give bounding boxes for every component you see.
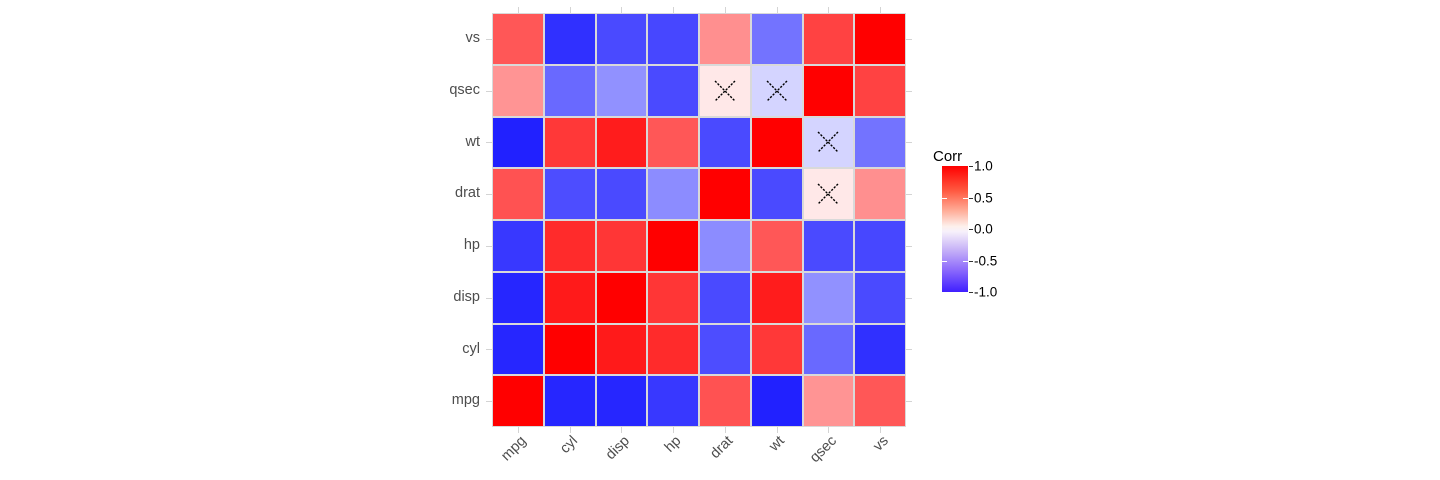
legend-tick-mark — [969, 229, 973, 230]
x-axis-label-slot: vs — [854, 427, 906, 480]
legend-label--0.5: -0.5 — [974, 253, 997, 268]
heatmap-cell — [544, 220, 596, 272]
y-axis-tick — [906, 194, 912, 195]
heatmap-cell — [803, 324, 855, 376]
heatmap-cell — [803, 117, 855, 169]
legend-tick — [942, 198, 947, 199]
heatmap-cell — [699, 65, 751, 117]
legend-tick-mark — [969, 198, 973, 199]
y-axis-tick — [486, 349, 492, 350]
heatmap-cell — [647, 324, 699, 376]
x-axis-label-slot: hp — [647, 427, 699, 480]
y-axis-label-wt: wt — [380, 117, 480, 169]
y-axis-tick — [906, 91, 912, 92]
x-axis-label-mpg: mpg — [498, 433, 529, 464]
y-axis-label-qsec: qsec — [380, 65, 480, 117]
y-axis-tick — [486, 142, 492, 143]
x-axis-label-slot: qsec — [803, 427, 855, 480]
heatmap-cell — [596, 272, 648, 324]
legend-tick-mark — [969, 166, 973, 167]
heatmap-cell — [699, 375, 751, 427]
heatmap-cell — [803, 168, 855, 220]
heatmap-cell — [647, 168, 699, 220]
heatmap-cell — [647, 220, 699, 272]
x-axis-tick — [673, 7, 674, 13]
y-axis-label-cyl: cyl — [380, 324, 480, 376]
heatmap-cell — [751, 117, 803, 169]
y-axis-tick — [906, 246, 912, 247]
heatmap-cell — [647, 272, 699, 324]
heatmap-cell — [699, 117, 751, 169]
insignificant-x-icon — [764, 78, 790, 104]
legend-tick — [942, 261, 947, 262]
heatmap-cell — [751, 13, 803, 65]
legend-label--1.0: -1.0 — [974, 285, 997, 300]
heatmap-cell — [596, 324, 648, 376]
y-axis-labels: vsqsecwtdrathpdispcylmpg — [380, 13, 480, 427]
insignificant-x-icon — [815, 181, 841, 207]
legend-title: Corr — [933, 148, 962, 165]
x-axis-tick — [777, 7, 778, 13]
heatmap-cell — [699, 168, 751, 220]
heatmap-cell — [751, 375, 803, 427]
heatmap-cell — [544, 168, 596, 220]
heatmap-cell — [492, 220, 544, 272]
x-axis-label-qsec: qsec — [807, 433, 840, 466]
heatmap-cell — [596, 168, 648, 220]
x-axis-label-slot: mpg — [492, 427, 544, 480]
heatmap-cell — [854, 220, 906, 272]
heatmap-cell — [544, 65, 596, 117]
heatmap-cell — [596, 65, 648, 117]
heatmap-cell — [492, 272, 544, 324]
heatmap-cell — [751, 324, 803, 376]
heatmap-cell — [544, 324, 596, 376]
heatmap-cell — [803, 13, 855, 65]
y-axis-tick — [486, 298, 492, 299]
legend-colorbar — [942, 166, 968, 292]
y-axis-tick — [906, 349, 912, 350]
y-axis-tick — [486, 401, 492, 402]
heatmap-cell — [751, 65, 803, 117]
insignificant-x-icon — [712, 78, 738, 104]
heatmap-cell — [699, 324, 751, 376]
x-axis-tick — [828, 7, 829, 13]
y-axis-tick — [906, 298, 912, 299]
heatmap-cell — [803, 220, 855, 272]
legend-tick-mark — [969, 292, 973, 293]
heatmap-cell — [544, 272, 596, 324]
heatmap-cell — [492, 324, 544, 376]
x-axis-label-hp: hp — [662, 433, 685, 456]
y-axis-label-mpg: mpg — [380, 375, 480, 427]
heatmap-cell — [544, 117, 596, 169]
x-axis-tick — [621, 7, 622, 13]
insignificant-x-icon — [815, 129, 841, 155]
heatmap-cell — [544, 375, 596, 427]
heatmap-cell — [751, 220, 803, 272]
correlation-heatmap-plot: vsqsecwtdrathpdispcylmpg mpgcyldisphpdra… — [0, 0, 1440, 480]
heatmap-cell — [596, 220, 648, 272]
heatmap-cell — [647, 117, 699, 169]
heatmap-cell — [492, 117, 544, 169]
y-axis-tick — [906, 401, 912, 402]
heatmap-grid — [492, 13, 906, 427]
heatmap-cell — [854, 272, 906, 324]
heatmap-cell — [492, 13, 544, 65]
heatmap-cell — [596, 375, 648, 427]
heatmap-cell — [492, 65, 544, 117]
legend-label-0.5: 0.5 — [974, 190, 993, 205]
x-axis-tick — [518, 7, 519, 13]
x-axis-label-slot: wt — [751, 427, 803, 480]
y-axis-tick — [486, 194, 492, 195]
heatmap-cell — [854, 13, 906, 65]
heatmap-cell — [699, 220, 751, 272]
heatmap-cell — [803, 375, 855, 427]
heatmap-cell — [699, 272, 751, 324]
y-axis-tick — [906, 142, 912, 143]
heatmap-cell — [647, 375, 699, 427]
heatmap-cell — [596, 117, 648, 169]
heatmap-cell — [699, 13, 751, 65]
heatmap-cell — [647, 65, 699, 117]
x-axis-label-drat: drat — [707, 433, 736, 462]
x-axis-label-disp: disp — [602, 433, 632, 463]
heatmap-cell — [854, 375, 906, 427]
heatmap-cell — [647, 13, 699, 65]
heatmap-cell — [854, 65, 906, 117]
x-axis-tick — [570, 7, 571, 13]
heatmap-cell — [492, 168, 544, 220]
heatmap-cell — [854, 324, 906, 376]
y-axis-tick — [906, 39, 912, 40]
x-axis-label-slot: drat — [699, 427, 751, 480]
legend: Corr 1.00.50.0-0.5-1.0 — [932, 148, 1042, 308]
y-axis-label-disp: disp — [380, 272, 480, 324]
heatmap-cell — [854, 168, 906, 220]
heatmap-cell — [803, 65, 855, 117]
y-axis-tick — [486, 39, 492, 40]
heatmap-cell — [854, 117, 906, 169]
x-axis-label-cyl: cyl — [557, 433, 581, 457]
heatmap-cell — [544, 13, 596, 65]
y-axis-tick — [486, 246, 492, 247]
legend-label-0.0: 0.0 — [974, 222, 993, 237]
heatmap-cell — [492, 375, 544, 427]
x-axis-tick — [725, 7, 726, 13]
legend-tick — [963, 261, 968, 262]
y-axis-label-drat: drat — [380, 168, 480, 220]
x-axis-labels: mpgcyldisphpdratwtqsecvs — [492, 427, 906, 480]
x-axis-label-vs: vs — [870, 433, 892, 455]
heatmap-panel — [492, 13, 906, 427]
y-axis-label-hp: hp — [380, 220, 480, 272]
legend-label-1.0: 1.0 — [974, 159, 993, 174]
x-axis-label-slot: cyl — [544, 427, 596, 480]
x-axis-tick — [880, 7, 881, 13]
heatmap-cell — [751, 168, 803, 220]
heatmap-cell — [751, 272, 803, 324]
heatmap-cell — [596, 13, 648, 65]
legend-tick — [963, 198, 968, 199]
legend-tick-mark — [969, 261, 973, 262]
y-axis-tick — [486, 91, 492, 92]
x-axis-label-wt: wt — [766, 433, 788, 455]
heatmap-cell — [803, 272, 855, 324]
y-axis-label-vs: vs — [380, 13, 480, 65]
x-axis-label-slot: disp — [596, 427, 648, 480]
